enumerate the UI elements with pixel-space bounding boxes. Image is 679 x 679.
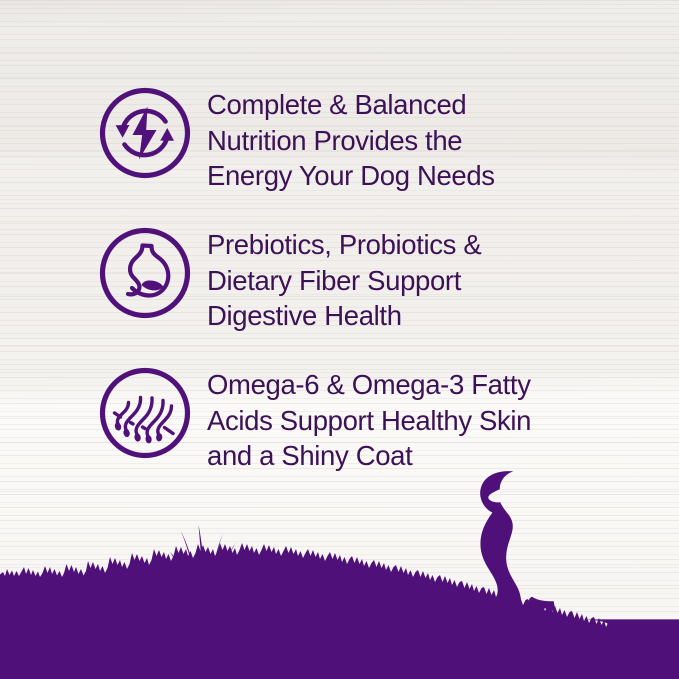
benefit-item-skin-coat: Omega-6 & Omega-3 Fatty Acids Support He… [0, 365, 679, 474]
grass-hill-silhouette [0, 543, 679, 679]
benefit-item-energy: Complete & Balanced Nutrition Provides t… [0, 85, 679, 194]
energy-cycle-icon [97, 85, 193, 181]
benefit-text-energy: Complete & Balanced Nutrition Provides t… [207, 85, 495, 194]
benefits-panel: Complete & Balanced Nutrition Provides t… [0, 0, 679, 679]
stomach-digestion-icon [97, 225, 193, 321]
hair-follicle-coat-icon [97, 365, 193, 461]
benefit-text-digestion: Prebiotics, Probiotics & Dietary Fiber S… [207, 225, 481, 334]
benefit-item-digestion: Prebiotics, Probiotics & Dietary Fiber S… [0, 225, 679, 334]
benefit-text-skin-coat: Omega-6 & Omega-3 Fatty Acids Support He… [207, 365, 531, 474]
dog-on-grassy-hill-silhouette [0, 449, 679, 679]
